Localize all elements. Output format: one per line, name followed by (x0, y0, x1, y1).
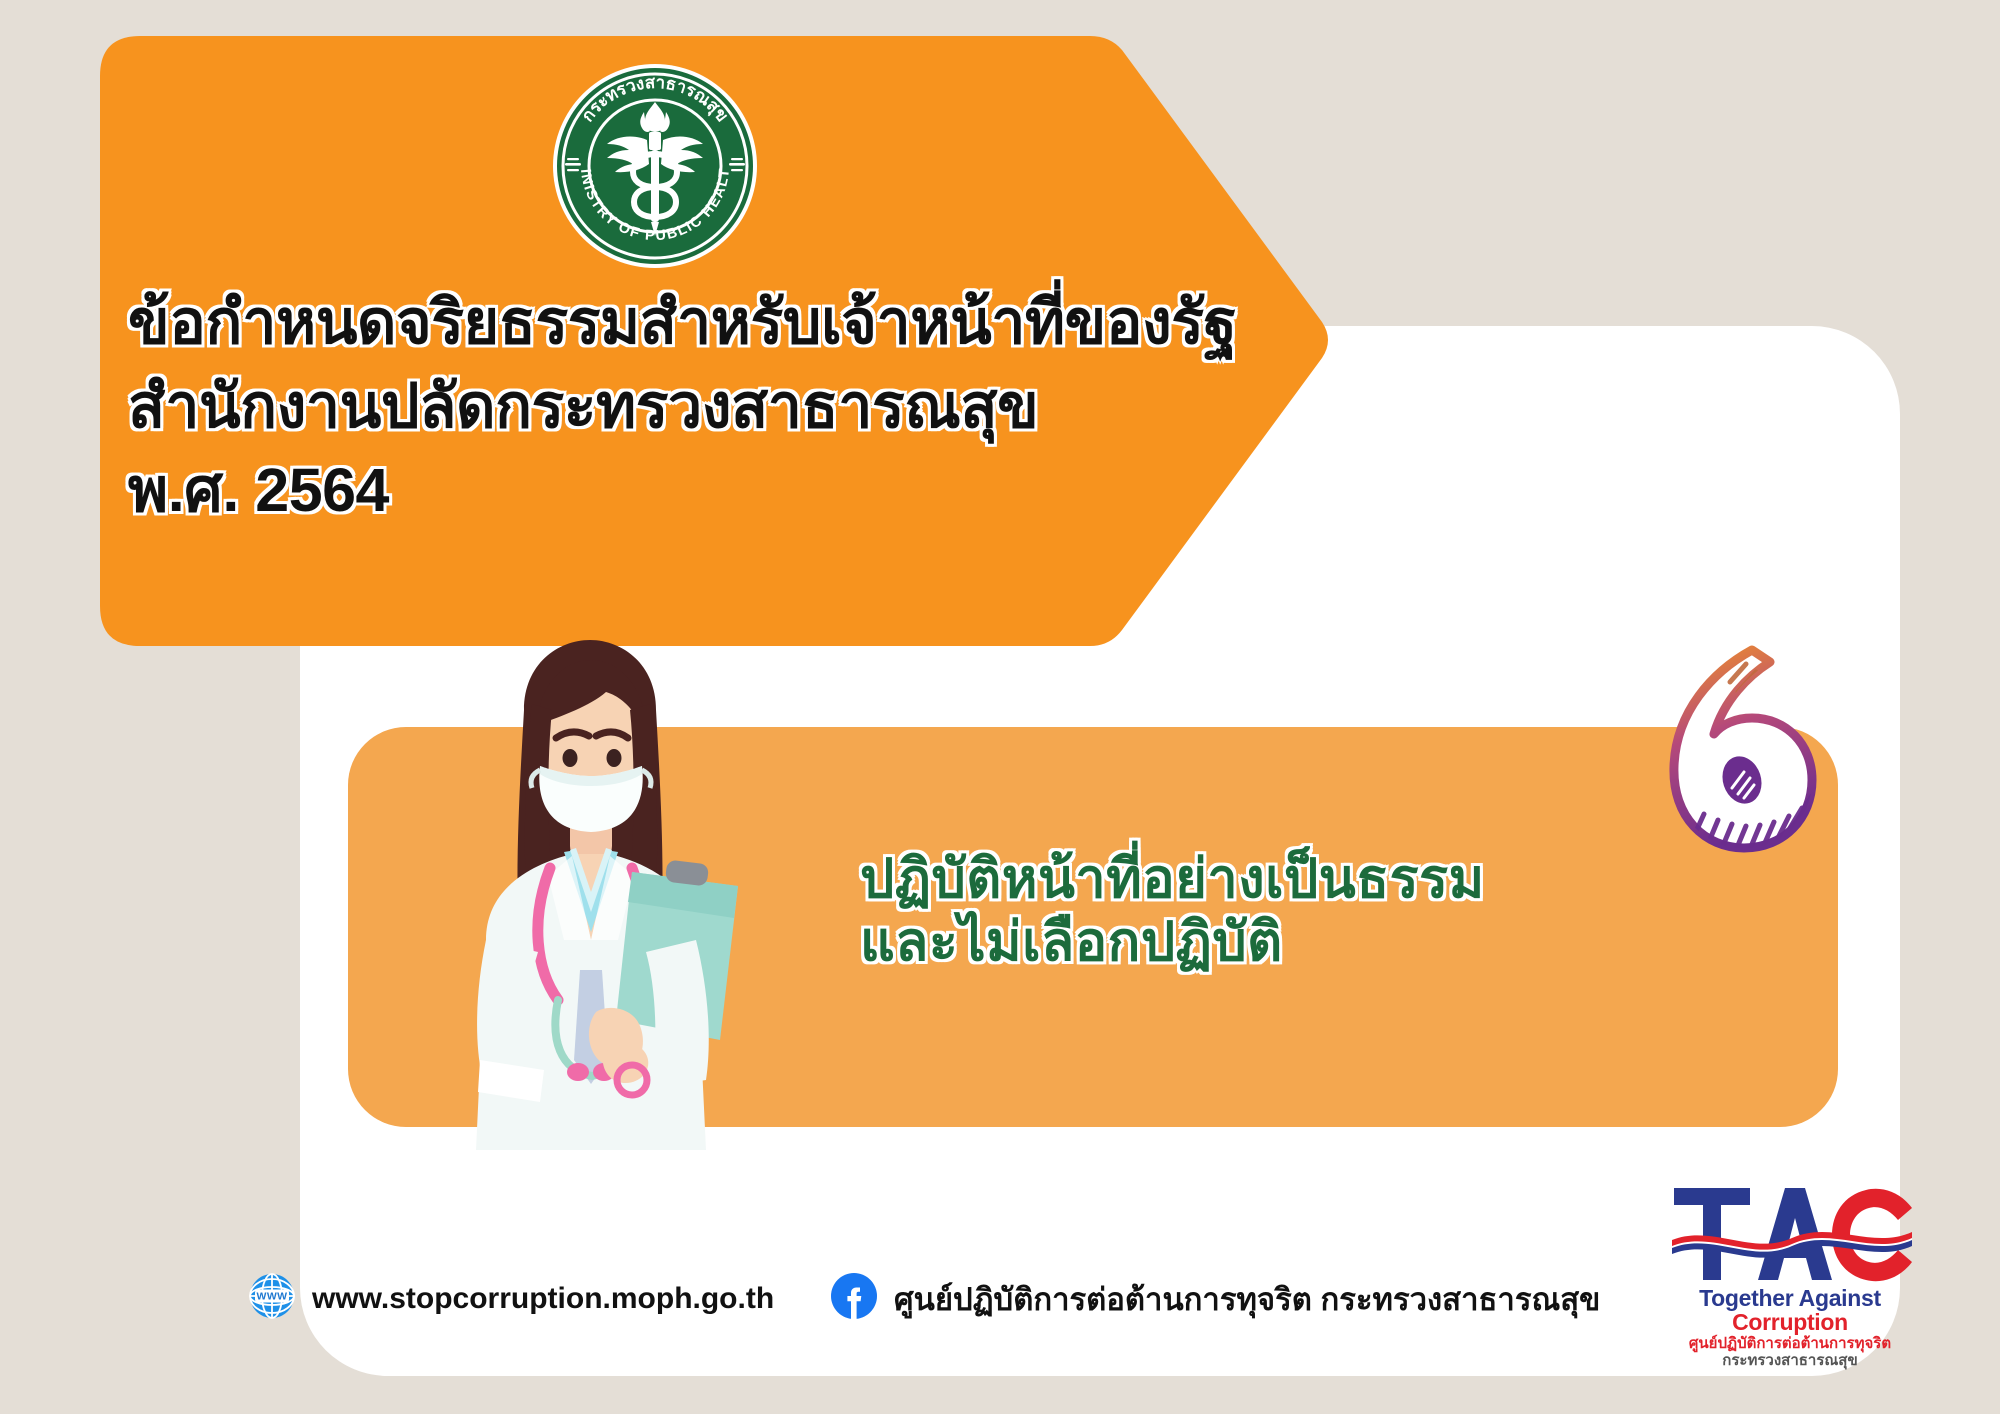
facebook-icon (830, 1272, 878, 1325)
tac-sub-accent: ศูนย์ปฏิบัติการต่อต้านการทุจริต (1689, 1335, 1891, 1352)
tac-mark (1660, 1180, 1920, 1290)
tac-sub-secondary: กระทรวงสาธารณสุข (1722, 1352, 1857, 1369)
infographic-canvas: กระทรวงสาธารณสุข MINISTRY OF PUBLIC HEAL… (0, 0, 2000, 1414)
www-globe-icon: WWW (248, 1272, 296, 1325)
page-title: ข้อกำหนดจริยธรรมสำหรับเจ้าหน้าที่ของรัฐ … (128, 280, 1248, 533)
title-line-2: สำนักงานปลัดกระทรวงสาธารณสุข (128, 364, 1248, 448)
tac-subtitle: ศูนย์ปฏิบัติการต่อต้านการทุจริต กระทรวงส… (1660, 1336, 1920, 1369)
svg-text:WWW: WWW (257, 1291, 288, 1303)
tac-tagline-accent: Corruption (1732, 1309, 1848, 1335)
statement-text: ปฏิบัติหน้าที่อย่างเป็นธรรม และไม่เลือกป… (860, 848, 1790, 974)
female-doctor-illustration (420, 640, 760, 1150)
website-label: www.stopcorruption.moph.go.th (312, 1282, 774, 1316)
title-line-3: พ.ศ. 2564 (128, 448, 1248, 532)
number-badge-6: 6 (1652, 638, 1832, 858)
title-line-1: ข้อกำหนดจริยธรรมสำหรับเจ้าหน้าที่ของรัฐ (128, 280, 1248, 364)
website-link[interactable]: WWW www.stopcorruption.moph.go.th (248, 1272, 774, 1325)
tac-logo-icon[interactable]: Together Against Corruption ศูนย์ปฏิบัติ… (1660, 1180, 1920, 1350)
statement-line-1: ปฏิบัติหน้าที่อย่างเป็นธรรม (860, 848, 1790, 911)
facebook-label: ศูนย์ปฏิบัติการต่อต้านการทุจริต กระทรวงส… (894, 1274, 1600, 1324)
moph-emblem-icon: กระทรวงสาธารณสุข MINISTRY OF PUBLIC HEAL… (551, 62, 759, 270)
tac-tagline: Together Against Corruption (1660, 1286, 1920, 1334)
facebook-link[interactable]: ศูนย์ปฏิบัติการต่อต้านการทุจริต กระทรวงส… (830, 1272, 1600, 1325)
statement-line-2: และไม่เลือกปฏิบัติ (860, 911, 1790, 974)
